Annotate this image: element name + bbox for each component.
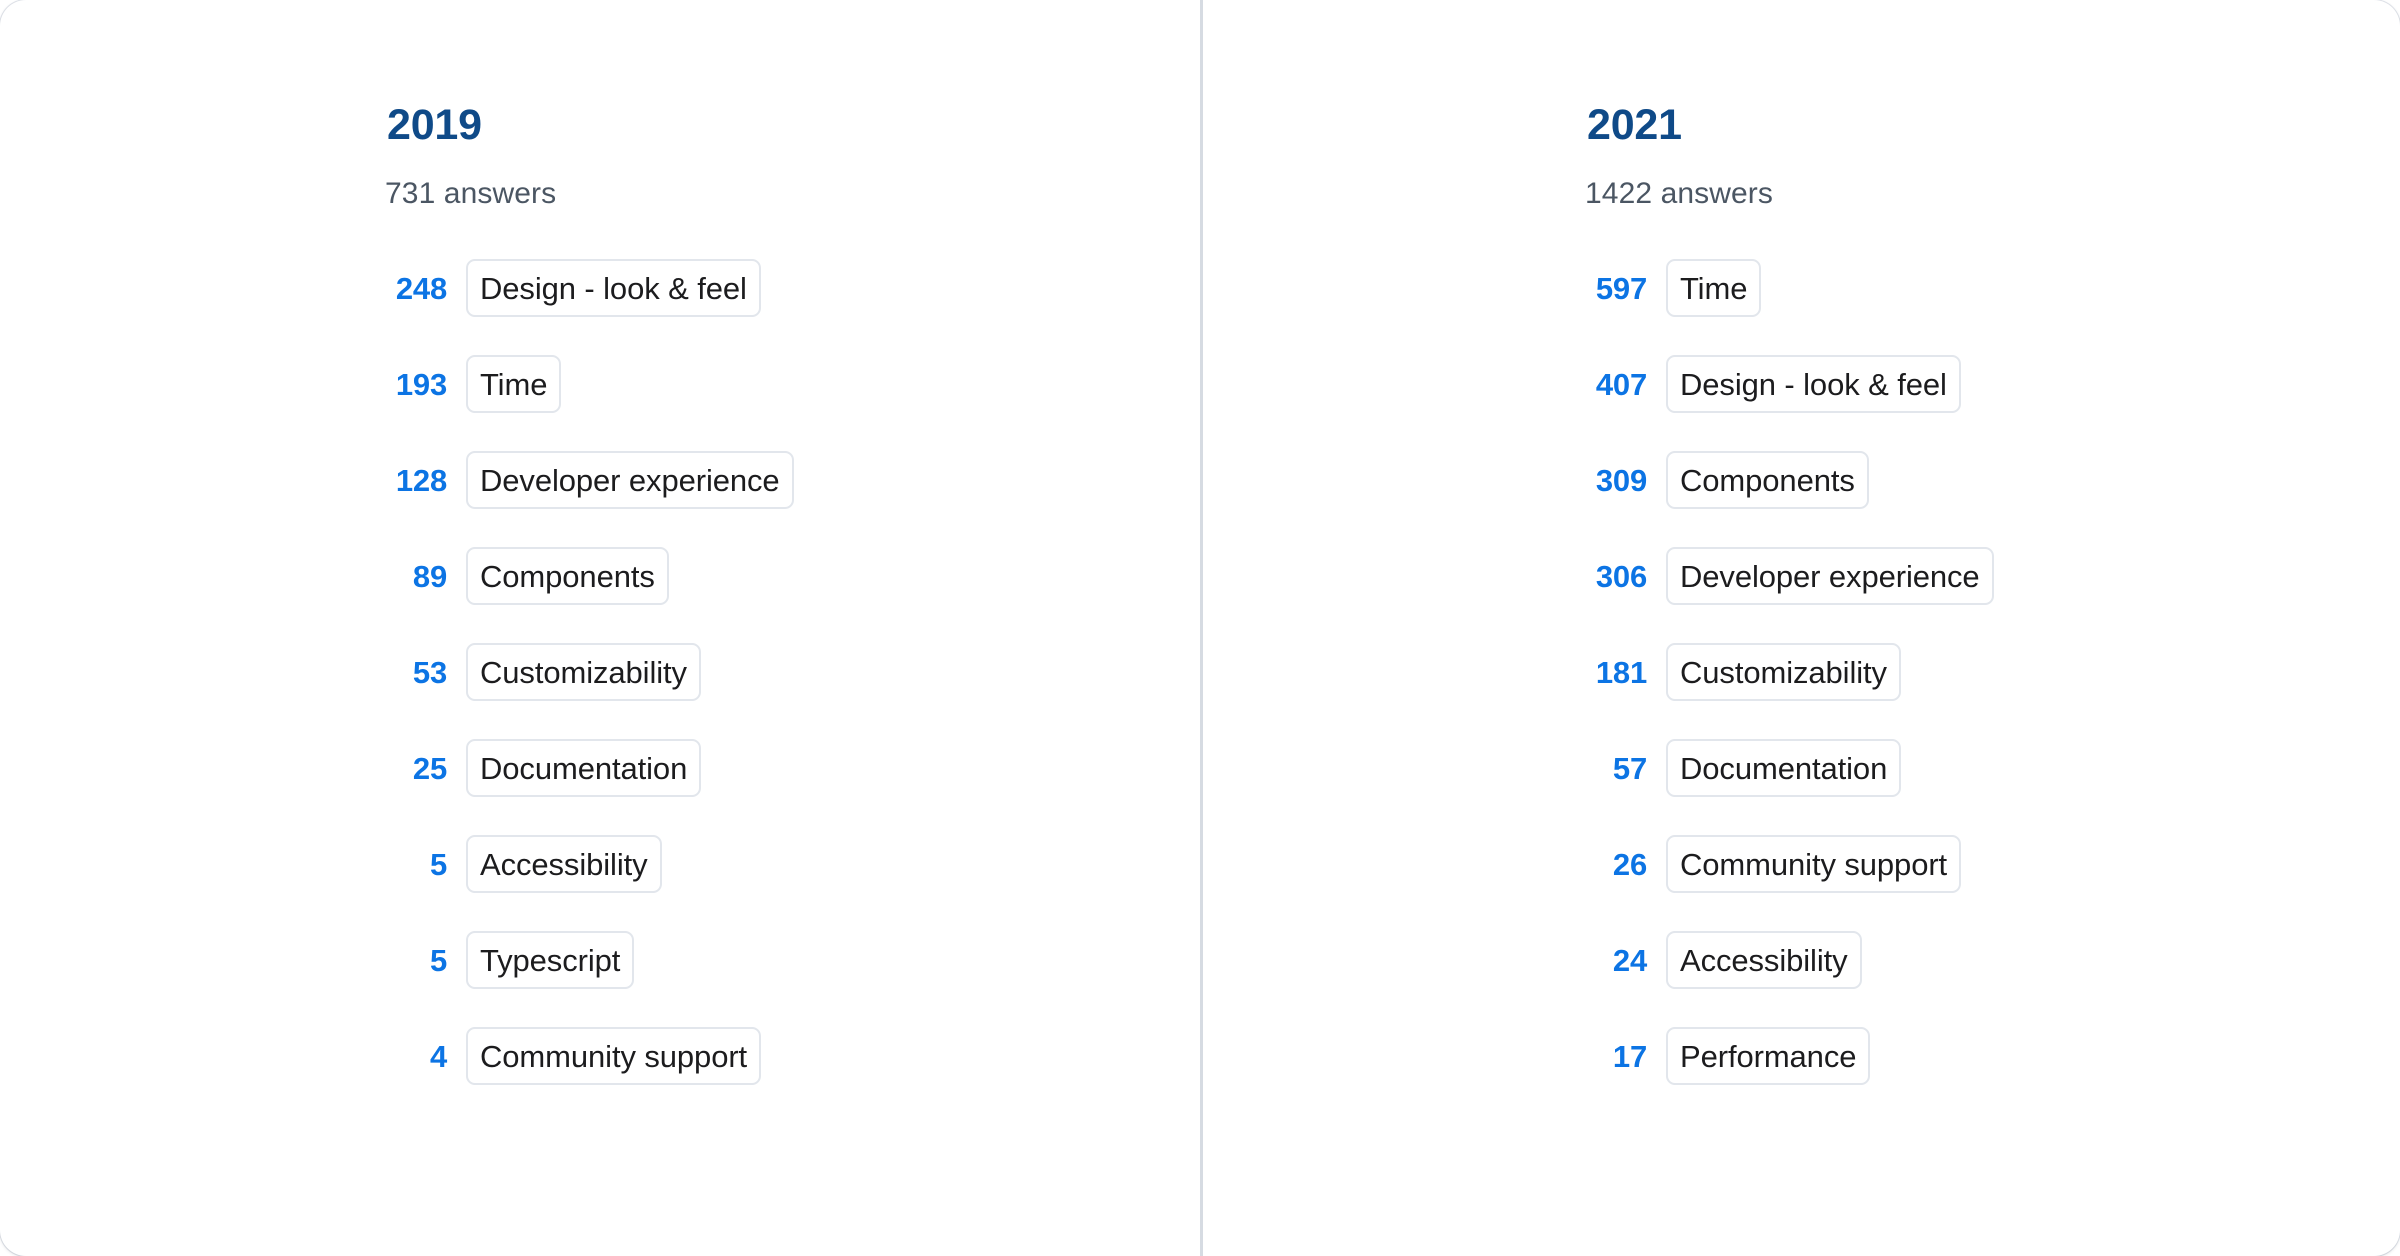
row-label-pill[interactable]: Components <box>1666 451 1869 509</box>
row-count: 25 <box>385 753 447 784</box>
row-count: 248 <box>385 273 447 304</box>
list-item[interactable]: 248 Design - look & feel <box>385 257 1200 319</box>
ranked-list: 248 Design - look & feel 193 Time 128 De… <box>385 257 1200 1087</box>
row-count: 181 <box>1585 657 1647 688</box>
row-label-pill[interactable]: Developer experience <box>466 451 794 509</box>
row-count: 57 <box>1585 753 1647 784</box>
list-item[interactable]: 53 Customizability <box>385 641 1200 703</box>
list-item[interactable]: 89 Components <box>385 545 1200 607</box>
row-label-pill[interactable]: Documentation <box>1666 739 1901 797</box>
row-label-pill[interactable]: Developer experience <box>1666 547 1994 605</box>
row-label-pill[interactable]: Time <box>1666 259 1761 317</box>
list-item[interactable]: 17 Performance <box>1585 1025 2400 1087</box>
list-item[interactable]: 309 Components <box>1585 449 2400 511</box>
ranked-list: 597 Time 407 Design - look & feel 309 Co… <box>1585 257 2400 1087</box>
comparison-card: 2019 731 answers 248 Design - look & fee… <box>0 0 2400 1256</box>
row-count: 306 <box>1585 561 1647 592</box>
list-item[interactable]: 57 Documentation <box>1585 737 2400 799</box>
row-count: 5 <box>385 849 447 880</box>
panel-answer-count: 1422 answers <box>1585 179 2400 209</box>
list-item[interactable]: 5 Typescript <box>385 929 1200 991</box>
row-count: 5 <box>385 945 447 976</box>
row-label-pill[interactable]: Performance <box>1666 1027 1870 1085</box>
list-item[interactable]: 4 Community support <box>385 1025 1200 1087</box>
row-count: 193 <box>385 369 447 400</box>
row-label-pill[interactable]: Community support <box>466 1027 761 1085</box>
row-label-pill[interactable]: Design - look & feel <box>466 259 761 317</box>
list-item[interactable]: 24 Accessibility <box>1585 929 2400 991</box>
panel-answer-count: 731 answers <box>385 179 1200 209</box>
row-count: 89 <box>385 561 447 592</box>
list-item[interactable]: 407 Design - look & feel <box>1585 353 2400 415</box>
list-item[interactable]: 25 Documentation <box>385 737 1200 799</box>
row-label-pill[interactable]: Customizability <box>1666 643 1901 701</box>
row-count: 128 <box>385 465 447 496</box>
list-item[interactable]: 306 Developer experience <box>1585 545 2400 607</box>
row-label-pill[interactable]: Customizability <box>466 643 701 701</box>
row-label-pill[interactable]: Components <box>466 547 669 605</box>
row-label-pill[interactable]: Time <box>466 355 561 413</box>
row-count: 17 <box>1585 1041 1647 1072</box>
panel-title: 2021 <box>1587 104 2400 147</box>
row-label-pill[interactable]: Accessibility <box>1666 931 1862 989</box>
row-label-pill[interactable]: Accessibility <box>466 835 662 893</box>
row-count: 24 <box>1585 945 1647 976</box>
panel-2019: 2019 731 answers 248 Design - look & fee… <box>0 0 1200 1256</box>
row-count: 309 <box>1585 465 1647 496</box>
row-count: 407 <box>1585 369 1647 400</box>
panel-2021: 2021 1422 answers 597 Time 407 Design - … <box>1200 0 2400 1256</box>
list-item[interactable]: 193 Time <box>385 353 1200 415</box>
row-label-pill[interactable]: Design - look & feel <box>1666 355 1961 413</box>
list-item[interactable]: 26 Community support <box>1585 833 2400 895</box>
panel-title: 2019 <box>387 104 1200 147</box>
row-count: 26 <box>1585 849 1647 880</box>
list-item[interactable]: 597 Time <box>1585 257 2400 319</box>
list-item[interactable]: 181 Customizability <box>1585 641 2400 703</box>
list-item[interactable]: 5 Accessibility <box>385 833 1200 895</box>
row-label-pill[interactable]: Community support <box>1666 835 1961 893</box>
list-item[interactable]: 128 Developer experience <box>385 449 1200 511</box>
row-label-pill[interactable]: Documentation <box>466 739 701 797</box>
row-count: 597 <box>1585 273 1647 304</box>
row-count: 4 <box>385 1041 447 1072</box>
row-label-pill[interactable]: Typescript <box>466 931 634 989</box>
row-count: 53 <box>385 657 447 688</box>
